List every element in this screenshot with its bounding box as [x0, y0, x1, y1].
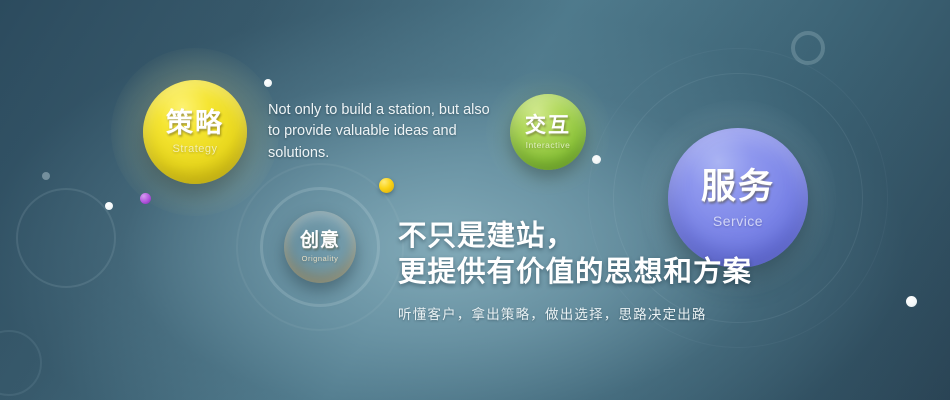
- headline-line1: 不只是建站，: [398, 218, 752, 254]
- sphere-originality[interactable]: 创意 Orignality: [284, 211, 356, 283]
- headline-line2: 更提供有价值的思想和方案: [398, 254, 752, 290]
- decorative-dot-white-top: [264, 79, 272, 87]
- english-tagline-line1: Not only to build a station, but also: [268, 100, 508, 121]
- decorative-dot-yellow: [379, 178, 394, 193]
- sphere-strategy[interactable]: 策略 Strategy: [143, 80, 247, 184]
- decorative-dot-purple: [140, 193, 151, 204]
- headline-block: 不只是建站， 更提供有价值的思想和方案 听懂客户，拿出策略，做出选择，思路决定出…: [398, 218, 752, 323]
- decorative-dot-grey-left: [42, 172, 50, 180]
- sphere-interactive[interactable]: 交互 Interactive: [510, 94, 586, 170]
- sphere-interactive-label-en: Interactive: [526, 141, 571, 150]
- sphere-strategy-label-en: Strategy: [173, 144, 218, 155]
- english-tagline-line2: to provide valuable ideas and solutions.: [268, 121, 508, 164]
- sphere-originality-label-cn: 创意: [300, 231, 340, 250]
- headline-subtitle: 听懂客户，拿出策略，做出选择，思路决定出路: [398, 303, 752, 323]
- sphere-interactive-label-cn: 交互: [525, 115, 571, 136]
- decorative-ring-left: [16, 188, 116, 288]
- decorative-dot-white-center: [592, 155, 601, 164]
- hero-banner: Not only to build a station, but also to…: [0, 0, 950, 400]
- sphere-strategy-label-cn: 策略: [166, 110, 224, 137]
- english-tagline: Not only to build a station, but also to…: [268, 100, 508, 164]
- decorative-ring-bottom-left: [0, 330, 42, 396]
- decorative-dot-white-right: [906, 296, 917, 307]
- decorative-dot-white-left: [105, 202, 113, 210]
- sphere-service-label-cn: 服务: [701, 169, 775, 204]
- sphere-originality-label-en: Orignality: [302, 255, 339, 263]
